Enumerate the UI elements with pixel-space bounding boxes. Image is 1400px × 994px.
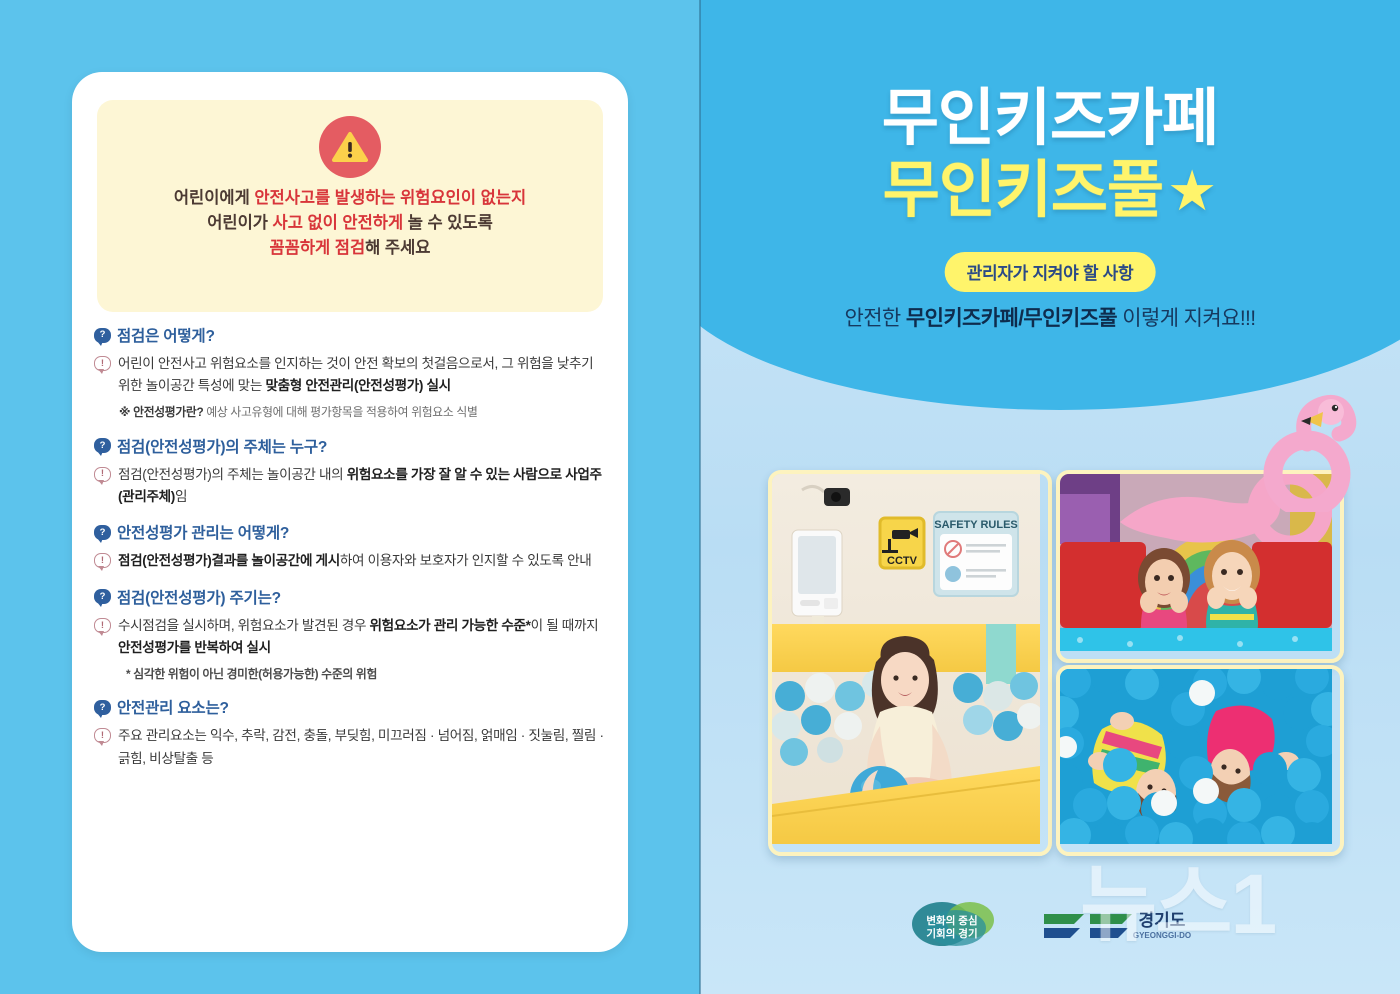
question-bubble-icon: ? [94,328,111,343]
text-run: 무인키즈카페/무인키즈풀 [906,307,1117,330]
text-run: 사고 없이 안전하게 [273,214,404,232]
qa-question-text: 점검(안전성평가)의 주체는 누구? [117,435,327,457]
answer-bubble-icon: ! [94,618,111,633]
notice-line-3: 꼼꼼하게 점검해 주세요 [174,236,526,261]
svg-text:SAFETY RULES: SAFETY RULES [934,519,1018,531]
qa-question-text: 안전관리 요소는? [117,696,229,718]
qa-answer-text: 주요 관리요소는 익수, 추락, 감전, 충돌, 부딪힘, 미끄러짐 · 넘어짐… [118,725,606,770]
content-card: 어린이에게 안전사고를 발생하는 위험요인이 없는지 어린이가 사고 없이 안전… [72,72,628,952]
qa-answer-row: !주요 관리요소는 익수, 추락, 감전, 충돌, 부딪힘, 미끄러짐 · 넘어… [94,725,606,770]
title-line-2-row: 무인키즈풀 ★ [700,160,1400,222]
qa-answer-row: !점검(안전성평가)결과를 놀이공간에 게시하여 이용자와 보호자가 인지할 수… [94,550,606,572]
answer-bubble-icon: ! [94,728,111,743]
question-bubble-icon: ? [94,525,111,540]
qa-question-row: ?점검(안전성평가) 주기는? [94,586,606,608]
title-line-2: 무인키즈풀 [883,160,1163,222]
question-bubble-icon: ? [94,438,111,453]
qa-question-row: ?점검은 어떻게? [94,324,606,346]
answer-bubble-icon: ! [94,356,111,371]
title-line-1: 무인키즈카페 [700,88,1400,150]
slogan-line-2: 기회의 경기 [926,927,977,940]
notice-box: 어린이에게 안전사고를 발생하는 위험요인이 없는지 어린이가 사고 없이 안전… [97,100,603,312]
left-page: 어린이에게 안전사고를 발생하는 위험요인이 없는지 어린이가 사고 없이 안전… [0,0,700,994]
answer-bubble-icon: ! [94,553,111,568]
qa-item-3: ?안전성평가 관리는 어떻게?!점검(안전성평가)결과를 놀이공간에 게시하여 … [72,521,628,572]
qa-answer-row: !어린이 안전사고 위험요소를 인지하는 것이 안전 확보의 첫걸음으로서, 그… [94,353,606,398]
svg-text:CCTV: CCTV [887,555,918,567]
question-bubble-icon: ? [94,589,111,604]
right-page: 무인키즈카페 무인키즈풀 ★ 관리자가 지켜야 할 사항 안전한 무인키즈카페/… [700,0,1400,994]
gyeonggi-slogan-logo: 변화의 중심 기회의 경기 [908,898,1004,955]
qa-question-text: 점검(안전성평가) 주기는? [117,586,281,608]
qa-list: ?점검은 어떻게?!어린이 안전사고 위험요소를 인지하는 것이 안전 확보의 … [72,324,628,783]
qa-answer-text: 점검(안전성평가)의 주체는 놀이공간 내의 위험요소를 가장 잘 알 수 있는… [118,464,606,509]
qa-question-row: ?점검(안전성평가)의 주체는 누구? [94,435,606,457]
subtitle: 안전한 무인키즈카페/무인키즈풀 이렇게 지켜요!!! [700,302,1400,332]
text-run: 안전한 [844,307,905,330]
news1-watermark: 뉴스1 [1080,862,1275,946]
cctv-sign: CCTV [880,518,924,568]
slogan-line-1: 변화의 중심 [926,914,977,927]
qa-question-row: ?안전관리 요소는? [94,696,606,718]
watermark-text: 뉴스1 [1080,862,1275,946]
qa-question-text: 안전성평가 관리는 어떻게? [117,521,289,543]
poster-root: 어린이에게 안전사고를 발생하는 위험요인이 없는지 어린이가 사고 없이 안전… [0,0,1400,994]
flamingo-float-icon [1245,382,1365,517]
safety-rules-sign: SAFETY RULES [934,512,1018,596]
qa-answer-text: 어린이 안전사고 위험요소를 인지하는 것이 안전 확보의 첫걸음으로서, 그 … [118,353,606,398]
title-block: 무인키즈카페 무인키즈풀 ★ [700,88,1400,222]
answer-bubble-icon: ! [94,467,111,482]
qa-answer-text: 점검(안전성평가)결과를 놀이공간에 게시하여 이용자와 보호자가 인지할 수 … [118,550,591,572]
manager-badge: 관리자가 지켜야 할 사항 [945,252,1156,292]
notice-lines: 어린이에게 안전사고를 발생하는 위험요인이 없는지 어린이가 사고 없이 안전… [174,186,526,261]
qa-answer-row: !수시점검을 실시하며, 위험요소가 발견된 경우 위험요소가 관리 가능한 수… [94,615,606,660]
qa-note-text: * 심각한 위험이 아닌 경미한(허용가능한) 수준의 위험 [126,666,606,684]
qa-item-1: ?점검은 어떻게?!어린이 안전사고 위험요소를 인지하는 것이 안전 확보의 … [72,324,628,422]
qa-answer-text: 수시점검을 실시하며, 위험요소가 발견된 경우 위험요소가 관리 가능한 수준… [118,615,606,660]
qa-question-text: 점검은 어떻게? [117,324,215,346]
text-run: 어린이에게 [174,189,254,207]
qa-item-4: ?점검(안전성평가) 주기는?!수시점검을 실시하며, 위험요소가 발견된 경우… [72,586,628,684]
qa-item-5: ?안전관리 요소는?!주요 관리요소는 익수, 추락, 감전, 충돌, 부딪힘,… [72,696,628,770]
warning-triangle-icon [319,116,381,178]
notice-line-2: 어린이가 사고 없이 안전하게 놀 수 있도록 [174,211,526,236]
qa-item-2: ?점검(안전성평가)의 주체는 누구?!점검(안전성평가)의 주체는 놀이공간 … [72,435,628,509]
text-run: 어린이가 [207,214,272,232]
text-run: 꼼꼼하게 점검 [270,239,366,257]
page-divider [699,0,701,994]
photo-unmanned-kids-cafe-ballpit: CCTV SAFETY RULES [768,470,1052,856]
qa-question-row: ?안전성평가 관리는 어떻게? [94,521,606,543]
text-run: 놀 수 있도록 [403,214,493,232]
question-bubble-icon: ? [94,700,111,715]
qa-answer-row: !점검(안전성평가)의 주체는 놀이공간 내의 위험요소를 가장 잘 알 수 있… [94,464,606,509]
qa-note-text: ※ 안전성평가란? 예상 사고유형에 대해 평가항목을 적용하여 위험요소 식별 [119,404,606,422]
photo-children-in-blue-ballpit [1056,665,1344,856]
star-icon: ★ [1167,163,1217,219]
notice-line-1: 어린이에게 안전사고를 발생하는 위험요인이 없는지 [174,186,526,211]
text-run: 이렇게 지켜요!!! [1117,307,1256,330]
text-run: 해 주세요 [365,239,430,257]
text-run: 안전사고를 발생하는 위험요인이 없는지 [254,189,526,207]
